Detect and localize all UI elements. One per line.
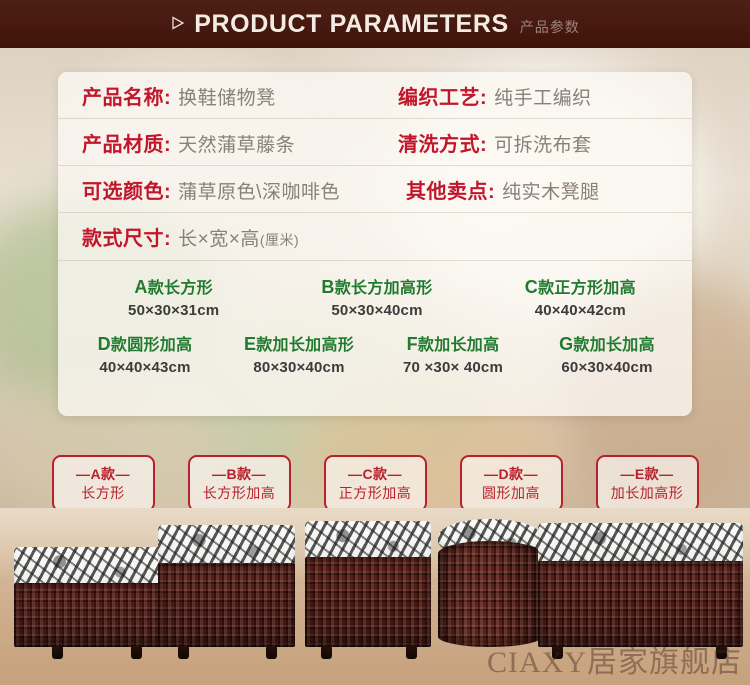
parameter-label: 其他卖点: (406, 175, 495, 204)
model-size: 50×30×31cm (72, 301, 275, 320)
product-stool-b (158, 525, 295, 647)
model-badge-list: —A款— 长方形 —B款— 长方形加高 —C款— 正方形加高 —D款— 圆形加高… (0, 455, 750, 513)
parameter-row: 产品名称: 换鞋储物凳 编织工艺: 纯手工编织 (58, 72, 692, 119)
model-item-b: B款长方加高形 50×30×40cm (275, 276, 478, 321)
badge-title: —C款— (348, 465, 402, 483)
shop-watermark: CIAXY居家旗舰店 (487, 637, 742, 681)
product-stool-c (305, 521, 431, 647)
model-name: E款加长加高形 (222, 333, 376, 356)
parameter-value: 天然蒲草藤条 (178, 130, 295, 157)
parameter-value: 换鞋储物凳 (178, 83, 276, 110)
model-item-c: C款正方形加高 40×40×42cm (479, 276, 682, 321)
badge-subtitle: 加长加高形 (611, 484, 684, 502)
parameter-label: 产品名称: (82, 81, 171, 110)
model-name: C款正方形加高 (479, 276, 682, 299)
model-size: 70 ×30× 40cm (376, 358, 530, 377)
parameter-value: 可拆洗布套 (494, 130, 592, 157)
parameter-row: 产品材质: 天然蒲草藤条 清洗方式: 可拆洗布套 (58, 119, 692, 166)
model-name: D款圆形加高 (68, 333, 222, 356)
badge-title: —D款— (484, 465, 538, 483)
product-stool-e (538, 523, 743, 647)
parameter-card: 产品名称: 换鞋储物凳 编织工艺: 纯手工编织 产品材质: 天然蒲草藤条 清洗方… (58, 72, 692, 416)
badge-subtitle: 正方形加高 (339, 484, 412, 502)
parameter-label: 可选颜色: (82, 175, 171, 204)
parameter-cell-cleaning: 清洗方式: 可拆洗布套 (398, 128, 592, 157)
badge-subtitle: 圆形加高 (482, 484, 540, 502)
parameter-value: 纯手工编织 (494, 83, 592, 110)
badge-subtitle: 长方形 (81, 484, 125, 502)
model-name: G款加长加高 (530, 333, 684, 356)
model-item-e: E款加长加高形 80×30×40cm (222, 333, 376, 378)
model-item-d: D款圆形加高 40×40×43cm (68, 333, 222, 378)
model-item-f: F款加长加高 70 ×30× 40cm (376, 333, 530, 378)
model-size: 40×40×43cm (68, 358, 222, 377)
page-header: PRODUCT PARAMETERS 产品参数 (0, 0, 750, 48)
badge-title: —E款— (620, 465, 673, 483)
model-row-1: A款长方形 50×30×31cm B款长方加高形 50×30×40cm C款正方… (58, 268, 692, 321)
product-stool-d (438, 519, 542, 647)
badge-title: —B款— (212, 465, 266, 483)
parameter-row: 可选颜色: 蒲草原色\深咖啡色 其他卖点: 纯实木凳腿 (58, 166, 692, 213)
triangle-right-icon (170, 16, 181, 30)
parameter-cell-color: 可选颜色: 蒲草原色\深咖啡色 (82, 175, 340, 204)
model-badge-a[interactable]: —A款— 长方形 (52, 455, 155, 512)
model-badge-c[interactable]: —C款— 正方形加高 (324, 455, 427, 512)
model-size: 40×40×42cm (479, 301, 682, 320)
parameter-row-size: 款式尺寸: 长×宽×高(厘米) (58, 213, 692, 261)
model-size-grid: A款长方形 50×30×31cm B款长方加高形 50×30×40cm C款正方… (58, 262, 692, 416)
parameter-label: 编织工艺: (398, 81, 487, 110)
parameter-value: 纯实木凳腿 (502, 177, 600, 204)
model-badge-b[interactable]: —B款— 长方形加高 (188, 455, 291, 512)
product-stool-a (14, 547, 166, 647)
parameter-cell-name: 产品名称: 换鞋储物凳 (82, 81, 276, 110)
product-photo-strip: CIAXY居家旗舰店 (0, 508, 750, 685)
parameter-label: 清洗方式: (398, 128, 487, 157)
model-item-a: A款长方形 50×30×31cm (72, 276, 275, 321)
size-unit: (厘米) (260, 232, 299, 248)
model-size: 50×30×40cm (275, 301, 478, 320)
parameter-cell-weave: 编织工艺: 纯手工编织 (398, 81, 592, 110)
page-title: PRODUCT PARAMETERS (194, 12, 509, 37)
model-name: B款长方加高形 (275, 276, 478, 299)
product-parameters-page: PRODUCT PARAMETERS 产品参数 产品名称: 换鞋储物凳 编织工艺… (0, 0, 750, 685)
parameter-cell-material: 产品材质: 天然蒲草藤条 (82, 128, 295, 157)
model-name: A款长方形 (72, 276, 275, 299)
badge-subtitle: 长方形加高 (203, 484, 276, 502)
model-size: 60×30×40cm (530, 358, 684, 377)
parameter-cell-size: 款式尺寸: 长×宽×高(厘米) (82, 222, 299, 251)
parameter-label: 产品材质: (82, 128, 171, 157)
model-item-g: G款加长加高 60×30×40cm (530, 333, 684, 378)
parameter-value: 长×宽×高(厘米) (178, 224, 299, 251)
parameter-value: 蒲草原色\深咖啡色 (178, 177, 340, 204)
badge-title: —A款— (76, 465, 130, 483)
model-badge-d[interactable]: —D款— 圆形加高 (460, 455, 563, 512)
parameter-cell-selling-point: 其他卖点: 纯实木凳腿 (406, 175, 600, 204)
model-size: 80×30×40cm (222, 358, 376, 377)
model-name: F款加长加高 (376, 333, 530, 356)
model-badge-e[interactable]: —E款— 加长加高形 (596, 455, 699, 512)
model-row-2: D款圆形加高 40×40×43cm E款加长加高形 80×30×40cm F款加… (58, 321, 692, 378)
parameter-label: 款式尺寸: (82, 222, 171, 251)
page-subtitle: 产品参数 (520, 20, 580, 34)
